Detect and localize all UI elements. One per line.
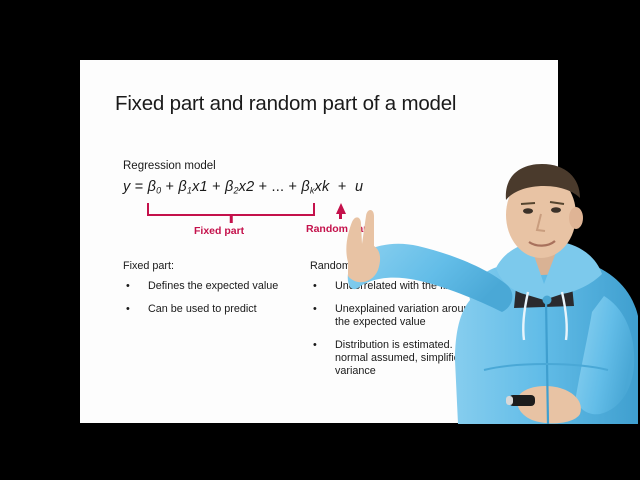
term-beta0: β0 <box>148 179 162 195</box>
bullet-icon: • <box>313 339 317 352</box>
random-part-arrow-stem <box>339 213 342 219</box>
fixed-part-bracket-tick <box>147 216 315 223</box>
equation-lhs: y <box>123 179 130 195</box>
hoodie-drawstring-right <box>562 292 567 340</box>
list-item: • Can be used to predict <box>123 303 323 316</box>
term-error: u <box>351 179 364 195</box>
regression-model-block: Regression model y = β0 + β1x1 + β2x2 + … <box>123 160 423 196</box>
plus-1: + <box>166 179 175 195</box>
bullet-icon: • <box>313 280 317 293</box>
presentation-slide: Fixed part and random part of a model Re… <box>80 60 558 423</box>
list-item: • Uncorrelated with the fixed part <box>310 280 490 293</box>
letterbox-bar-bottom <box>0 470 640 480</box>
fixed-part-bracket <box>147 203 315 216</box>
regression-equation: y = β0 + β1x1 + β2x2 + ... + βkxk + u <box>123 179 423 196</box>
list-item: • Defines the expected value <box>123 280 323 293</box>
list-item: • Distribution is estimated. If normal a… <box>310 339 490 379</box>
term-betak: βkxk <box>301 179 329 195</box>
list-item-text: Can be used to predict <box>148 303 257 315</box>
bullet-icon: • <box>126 280 130 293</box>
bullet-icon: • <box>126 303 130 316</box>
fixed-part-annotation-label: Fixed part <box>194 225 244 237</box>
term-beta1: β1x1 <box>178 179 207 195</box>
list-item-text: Uncorrelated with the fixed part <box>335 280 484 292</box>
random-part-column: Random part: • Uncorrelated with the fix… <box>310 260 490 388</box>
random-part-annotation-label: Random part <box>306 223 371 235</box>
fixed-part-column: Fixed part: • Defines the expected value… <box>123 260 323 325</box>
list-item-text: Defines the expected value <box>148 280 278 292</box>
list-item-text: Unexplained variation around the expecte… <box>335 303 475 328</box>
list-item-text: Distribution is estimated. If normal ass… <box>335 339 477 378</box>
plus-3: + <box>259 179 268 195</box>
term-beta2: β2x2 <box>225 179 254 195</box>
plus-5: + <box>334 179 347 195</box>
fixed-part-heading: Fixed part: <box>123 260 323 273</box>
equation-caption: Regression model <box>123 160 423 172</box>
presenter-ear <box>569 207 583 229</box>
letterbox-bar-top <box>0 0 640 10</box>
hoodie-sleeve-lowered <box>576 296 634 414</box>
random-part-heading: Random part: <box>310 260 490 273</box>
list-item: • Unexplained variation around the expec… <box>310 303 490 330</box>
slide-title: Fixed part and random part of a model <box>115 92 456 116</box>
plus-4: + <box>288 179 297 195</box>
equals-sign: = <box>135 179 144 195</box>
plus-2: + <box>212 179 221 195</box>
video-frame: Fixed part and random part of a model Re… <box>0 0 640 480</box>
bullet-icon: • <box>313 303 317 316</box>
ellipsis: ... <box>272 179 285 195</box>
